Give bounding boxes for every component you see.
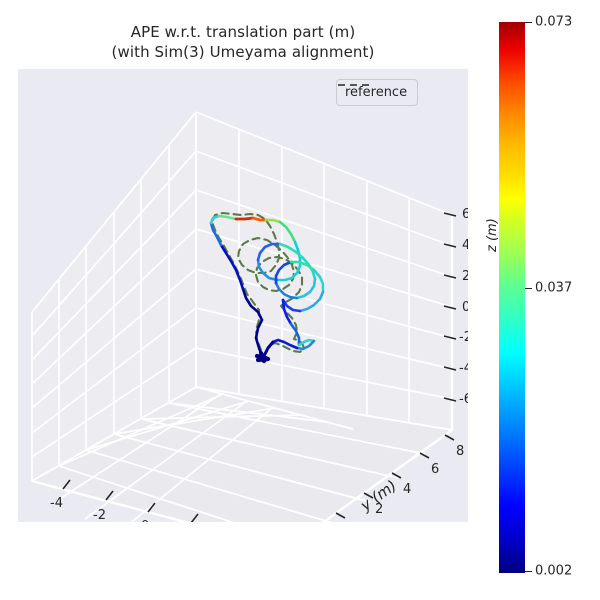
colorbar-tick-max (525, 22, 532, 23)
ztick-label-3: 0 (462, 300, 468, 315)
xtick-label-1: -2 (93, 508, 106, 522)
ytick-label-4: 6 (431, 462, 439, 477)
title-line-2: (with Sim(3) Umeyama alignment) (18, 42, 468, 62)
ztick-label-5: -4 (459, 361, 468, 376)
colorbar-tick-min (525, 571, 532, 572)
title-line-1: APE w.r.t. translation part (m) (18, 22, 468, 42)
axes3d-canvas (18, 69, 468, 522)
colorbar-label-min: 0.002 (535, 564, 572, 579)
ztick-label-1: 4 (462, 238, 468, 253)
legend[interactable]: reference (336, 79, 418, 106)
ytick-label-5: 8 (456, 444, 464, 459)
colorbar-label-mid: 0.037 (535, 281, 572, 296)
ytick-label-3: 4 (403, 482, 411, 497)
colorbar[interactable]: 0.073 0.037 0.002 (499, 22, 525, 573)
legend-dashed-line-icon (337, 80, 371, 90)
colorbar-label-max: 0.073 (535, 15, 572, 30)
colorbar-tick-mid (525, 288, 532, 289)
figure-3d-trajectory-plot: APE w.r.t. translation part (m) (with Si… (0, 0, 600, 600)
z-axis-label-clipped: z (m) (485, 218, 500, 252)
xtick-label-0: -4 (50, 496, 63, 511)
page-title: APE w.r.t. translation part (m) (with Si… (18, 22, 468, 62)
axes3d-panes (32, 112, 452, 522)
ztick-label-0: 6 (462, 207, 468, 222)
plot-area[interactable]: -4 -2 0 2 4 6 -2 0 2 4 6 8 6 4 2 0 -2 -4… (18, 69, 468, 522)
ztick-label-2: 2 (462, 269, 468, 284)
ztick-label-4: -2 (459, 330, 468, 345)
colorbar-gradient (499, 22, 525, 573)
ztick-label-6: -6 (459, 392, 468, 407)
xtick-label-2: 0 (141, 519, 149, 522)
